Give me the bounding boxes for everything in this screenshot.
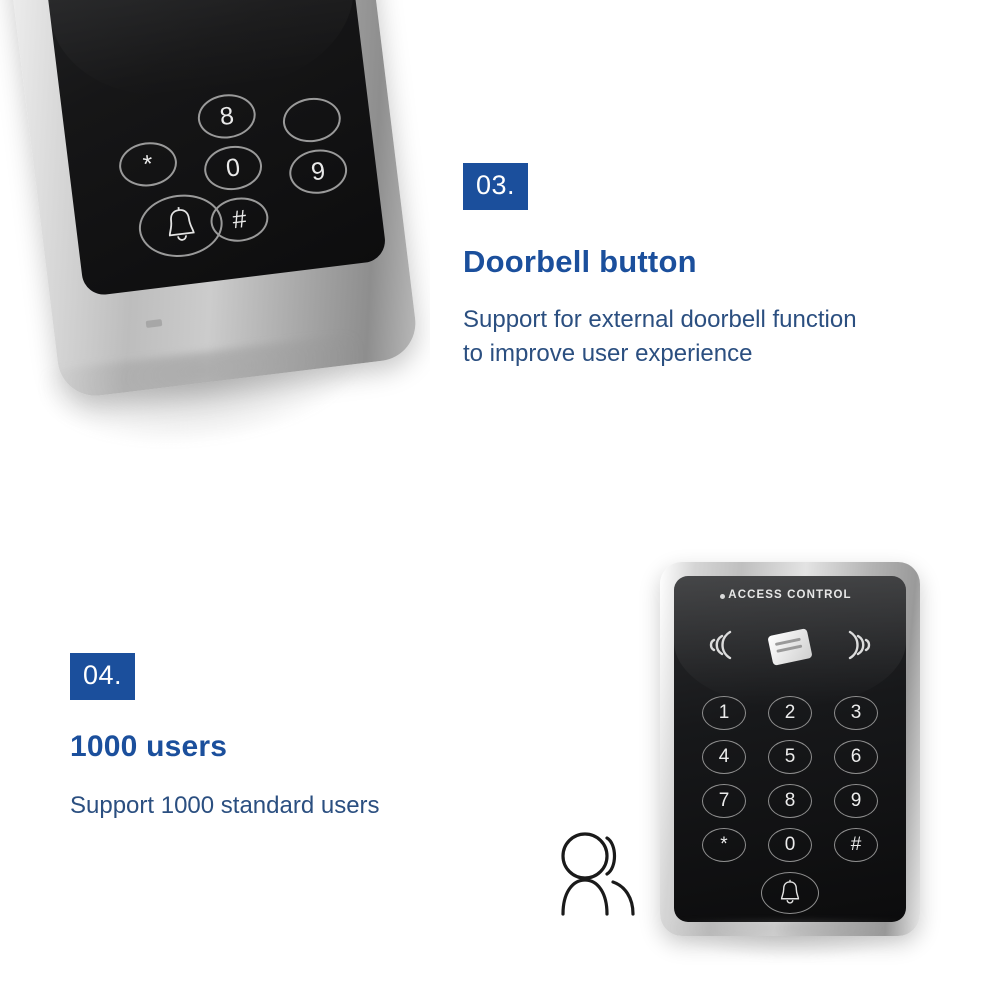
device-key-6[interactable]: 6 bbox=[834, 740, 878, 774]
product-feature-page: 8 * 0 9 # 03. Doorbell button Support fo… bbox=[0, 0, 1000, 1000]
device-key-9[interactable]: 9 bbox=[834, 784, 878, 818]
device-key-3[interactable]: 3 bbox=[834, 696, 878, 730]
device-brand-label: ACCESS CONTROL bbox=[674, 589, 906, 601]
keypad-closeup-photo: 8 * 0 9 # bbox=[0, 0, 430, 470]
device-key-star[interactable]: * bbox=[702, 828, 746, 862]
access-control-device-photo: ACCESS CONTROL 1 2 3 4 5 6 7 8 9 * 0 bbox=[540, 548, 1000, 948]
device-keypad-panel-closeup: 8 * 0 9 # bbox=[34, 0, 388, 297]
device-key-2[interactable]: 2 bbox=[768, 696, 812, 730]
doorbell-icon bbox=[161, 203, 200, 247]
rfid-wave-right-icon bbox=[842, 628, 876, 662]
section-description-03: Support for external doorbell function t… bbox=[463, 303, 983, 371]
section-description-04: Support 1000 standard users bbox=[70, 789, 520, 823]
device-keypad-panel: ACCESS CONTROL 1 2 3 4 5 6 7 8 9 * 0 bbox=[674, 576, 906, 922]
device-doorbell-key[interactable] bbox=[761, 872, 819, 914]
section-title-03: Doorbell button bbox=[463, 244, 983, 280]
keypad-key-8[interactable]: 8 bbox=[195, 91, 258, 142]
keypad-key-top-right-partial[interactable] bbox=[280, 95, 343, 146]
keypad-key-0[interactable]: 0 bbox=[202, 143, 265, 194]
device-key-7[interactable]: 7 bbox=[702, 784, 746, 818]
keypad-key-star[interactable]: * bbox=[117, 139, 180, 190]
section-number-04: 04. bbox=[70, 653, 135, 700]
device-key-0[interactable]: 0 bbox=[768, 828, 812, 862]
section-number-03: 03. bbox=[463, 163, 528, 210]
section-title-04: 1000 users bbox=[70, 730, 520, 764]
device-key-8[interactable]: 8 bbox=[768, 784, 812, 818]
rfid-wave-left-icon bbox=[704, 628, 738, 662]
feature-block-03: 03. Doorbell button Support for external… bbox=[463, 163, 983, 371]
section-description-03-line1: Support for external doorbell function bbox=[463, 303, 983, 337]
feature-block-04: 04. 1000 users Support 1000 standard use… bbox=[70, 653, 520, 823]
device-key-4[interactable]: 4 bbox=[702, 740, 746, 774]
device-drop-shadow bbox=[672, 920, 912, 960]
section-description-03-line2: to improve user experience bbox=[463, 337, 983, 371]
device-key-5[interactable]: 5 bbox=[768, 740, 812, 774]
device-key-hash[interactable]: # bbox=[834, 828, 878, 862]
doorbell-icon bbox=[778, 878, 802, 906]
device-key-1[interactable]: 1 bbox=[702, 696, 746, 730]
doorbell-key-closeup[interactable] bbox=[135, 190, 226, 262]
panel-gloss bbox=[34, 0, 365, 109]
keypad-key-9[interactable]: 9 bbox=[287, 146, 350, 197]
